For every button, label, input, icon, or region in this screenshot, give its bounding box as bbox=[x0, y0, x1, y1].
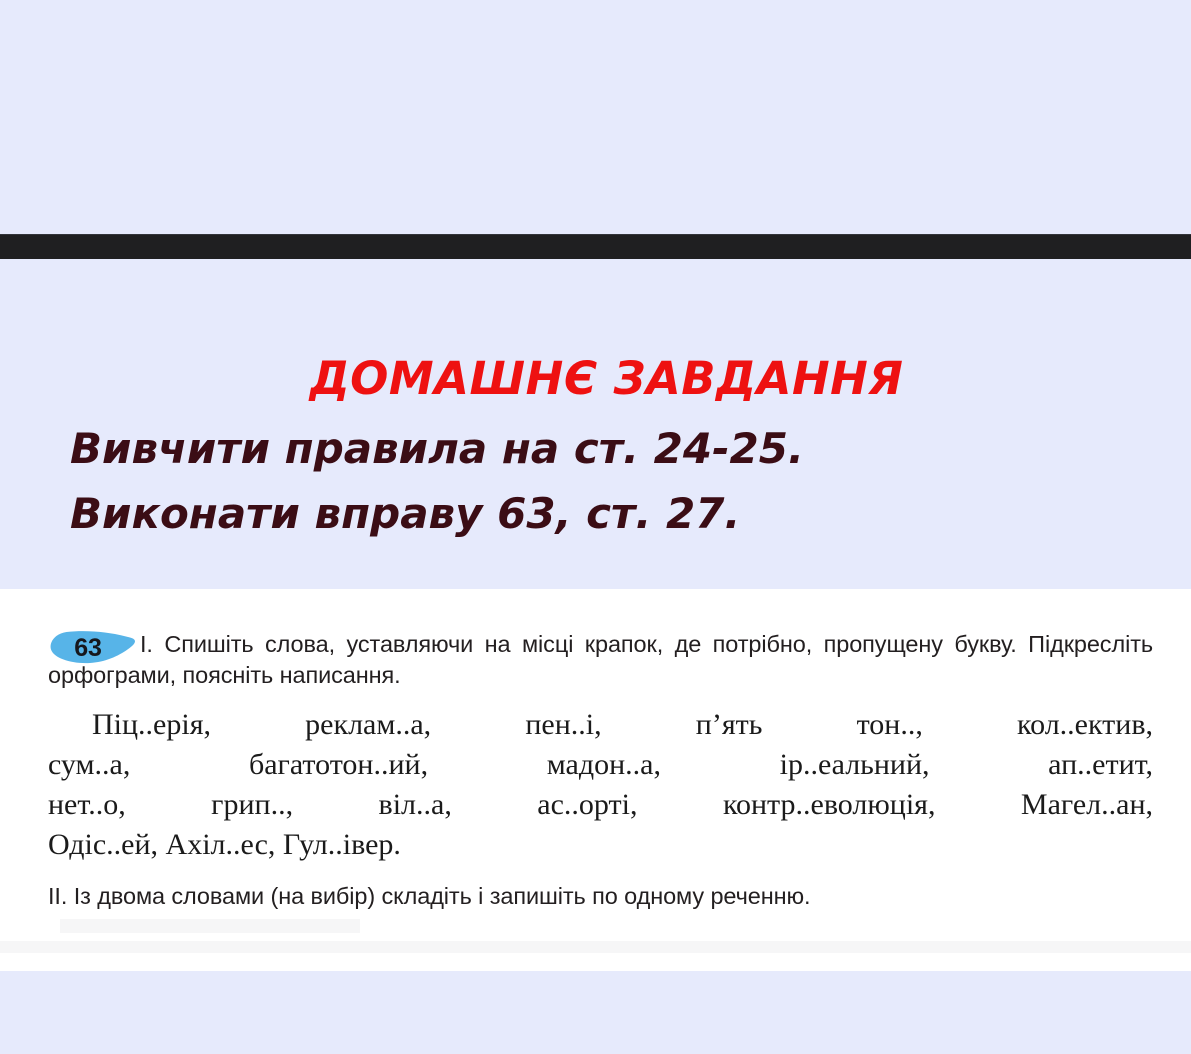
word-list-line-text: нет..о, грип.., віл..а, ас..орті, контр.… bbox=[48, 788, 1153, 821]
homework-block: ДОМАШНЄ ЗАВДАННЯ Вивчити правила на ст. … bbox=[0, 355, 1191, 546]
scan-artifact bbox=[60, 919, 360, 933]
homework-title: ДОМАШНЄ ЗАВДАННЯ bbox=[0, 355, 1191, 402]
word-list-line-text: Одіс..ей, Ахіл..ес, Гул..івер. bbox=[48, 828, 401, 861]
exercise-instruction-part-one: 63 I. Спишіть слова, уставляючи на місці… bbox=[48, 629, 1153, 691]
exercise-number-badge: 63 bbox=[50, 631, 136, 664]
word-list-line: нет..о, грип.., віл..а, ас..орті, контр.… bbox=[48, 785, 1153, 825]
exercise-instruction-part-two: II. Із двома словами (на вибір) складіть… bbox=[48, 881, 1153, 912]
textbook-excerpt-panel: 63 I. Спишіть слова, уставляючи на місці… bbox=[0, 589, 1191, 971]
homework-line-2: Виконати вправу 63, ст. 27. bbox=[0, 481, 1191, 546]
word-list-line-text: сум..а, багатотон..ий, мадон..а, ір..еал… bbox=[48, 748, 1153, 781]
exercise-number: 63 bbox=[64, 635, 112, 661]
exercise-word-list: Піц..ерія, реклам..а, пен..і, п’ять тон.… bbox=[48, 705, 1153, 865]
word-list-line-text: Піц..ерія, реклам..а, пен..і, п’ять тон.… bbox=[92, 708, 1153, 741]
scan-artifact bbox=[0, 941, 1191, 953]
word-list-line: сум..а, багатотон..ий, мадон..а, ір..еал… bbox=[48, 745, 1153, 785]
exercise-instruction-text: I. Спишіть слова, уставляючи на місці кр… bbox=[48, 631, 1153, 688]
homework-line-1: Вивчити правила на ст. 24-25. bbox=[0, 416, 1191, 481]
textbook-content: 63 I. Спишіть слова, уставляючи на місці… bbox=[48, 629, 1153, 912]
word-list-line: Піц..ерія, реклам..а, пен..і, п’ять тон.… bbox=[48, 705, 1153, 745]
top-divider-bar bbox=[0, 234, 1191, 259]
slide-canvas: ДОМАШНЄ ЗАВДАННЯ Вивчити правила на ст. … bbox=[0, 0, 1191, 1054]
word-list-line: Одіс..ей, Ахіл..ес, Гул..івер. bbox=[48, 825, 1153, 865]
